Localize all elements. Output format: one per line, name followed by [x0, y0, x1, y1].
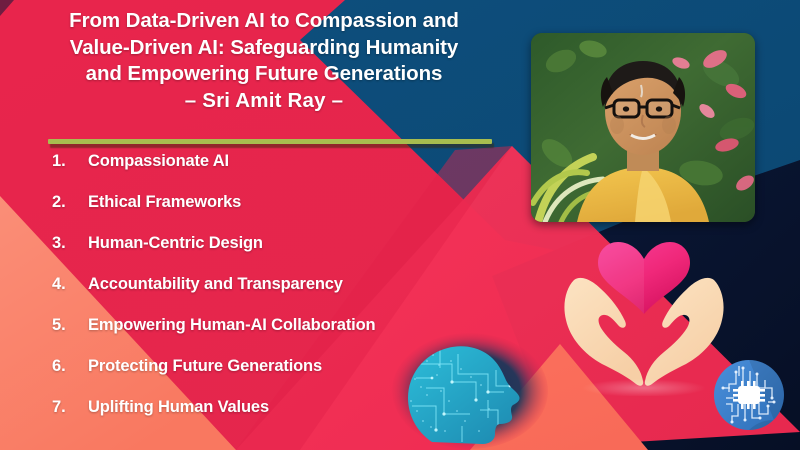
list-item-number: 7. [52, 398, 88, 417]
portrait-photo [531, 33, 755, 222]
list-item-label: Human-Centric Design [88, 234, 263, 253]
list-item: 2. Ethical Frameworks [52, 193, 522, 234]
hands-glow [582, 379, 706, 396]
list-item-number: 5. [52, 316, 88, 335]
slide-title: From Data-Driven AI to Compassion and Va… [18, 8, 510, 114]
list-item: 6. Protecting Future Generations [52, 357, 522, 398]
list-item-number: 6. [52, 357, 88, 376]
title-line-2: Value-Driven AI: Safeguarding Humanity [18, 35, 510, 62]
title-divider-bar [48, 139, 492, 144]
list-item-label: Protecting Future Generations [88, 357, 322, 376]
presentation-slide: From Data-Driven AI to Compassion and Va… [0, 0, 800, 450]
topic-list: 1. Compassionate AI 2. Ethical Framework… [52, 152, 522, 439]
list-item-label: Ethical Frameworks [88, 193, 241, 212]
title-author: – Sri Amit Ray – [18, 88, 510, 115]
title-divider [48, 139, 492, 148]
list-item: 1. Compassionate AI [52, 152, 522, 193]
list-item-number: 3. [52, 234, 88, 253]
list-item-label: Compassionate AI [88, 152, 229, 171]
hands-holding-heart-icon [556, 236, 732, 396]
list-item-label: Empowering Human-AI Collaboration [88, 316, 375, 335]
cpu-chip-badge-icon [712, 358, 786, 432]
list-item: 3. Human-Centric Design [52, 234, 522, 275]
list-item-number: 1. [52, 152, 88, 171]
list-item: 5. Empowering Human-AI Collaboration [52, 316, 522, 357]
title-line-1: From Data-Driven AI to Compassion and [18, 8, 510, 35]
list-item: 7. Uplifting Human Values [52, 398, 522, 439]
list-item: 4. Accountability and Transparency [52, 275, 522, 316]
list-item-number: 2. [52, 193, 88, 212]
list-item-number: 4. [52, 275, 88, 294]
list-item-label: Uplifting Human Values [88, 398, 269, 417]
title-line-3: and Empowering Future Generations [18, 61, 510, 88]
list-item-label: Accountability and Transparency [88, 275, 343, 294]
